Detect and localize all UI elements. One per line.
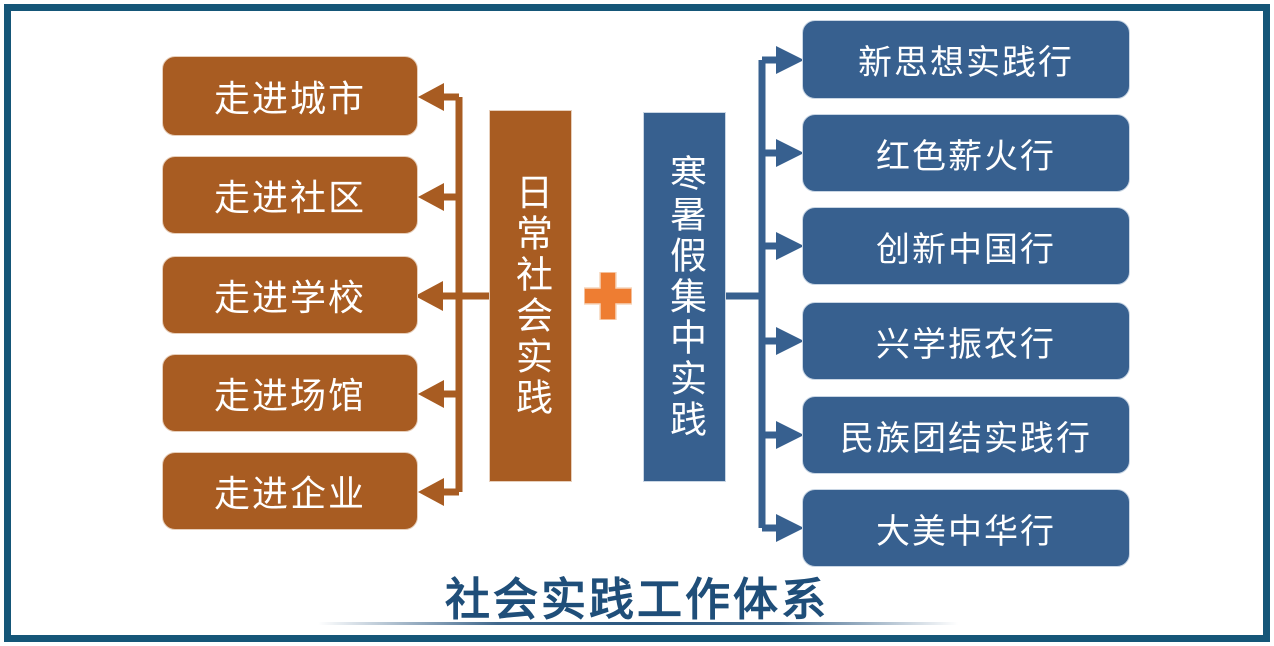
page-title: 社会实践工作体系 [0, 563, 1274, 628]
node-right-4-label: 兴学振农行 [876, 317, 1056, 366]
title-underline-rule [318, 622, 958, 625]
node-left-1[interactable]: 走进城市 [162, 56, 418, 136]
node-left-1-label: 走进城市 [214, 70, 366, 122]
frame-left-border [4, 4, 11, 642]
node-right-4[interactable]: 兴学振农行 [802, 302, 1130, 380]
node-left-3[interactable]: 走进学校 [162, 256, 418, 334]
node-left-2[interactable]: 走进社区 [162, 156, 418, 234]
node-right-6-label: 大美中华行 [876, 504, 1056, 553]
left-connectors [415, 83, 489, 506]
node-right-3-label: 创新中国行 [876, 222, 1056, 271]
hub-vacation-practice-label: 寒暑假集中实践 [658, 154, 712, 441]
right-connectors [726, 46, 804, 542]
hub-daily-practice-label: 日常社会实践 [504, 173, 558, 419]
node-right-6[interactable]: 大美中华行 [802, 489, 1130, 567]
node-left-5-label: 走进企业 [214, 465, 366, 517]
frame-right-border [1263, 4, 1270, 642]
frame-top-border [6, 4, 1268, 11]
node-left-4[interactable]: 走进场馆 [162, 354, 418, 432]
node-right-2-label: 红色薪火行 [876, 129, 1056, 178]
slide-canvas: 走进城市 走进社区 走进学校 走进场馆 走进企业 日常社会实践 寒暑假集中实践 … [0, 0, 1274, 646]
node-right-3[interactable]: 创新中国行 [802, 207, 1130, 285]
node-right-5-label: 民族团结实践行 [840, 411, 1092, 460]
node-right-1-label: 新思想实践行 [858, 35, 1074, 84]
node-right-5[interactable]: 民族团结实践行 [802, 396, 1130, 474]
node-left-4-label: 走进场馆 [214, 367, 366, 419]
hub-vacation-practice[interactable]: 寒暑假集中实践 [643, 112, 726, 482]
node-right-1[interactable]: 新思想实践行 [802, 20, 1130, 99]
node-left-5[interactable]: 走进企业 [162, 452, 418, 530]
frame-bottom-border [6, 635, 1268, 642]
node-left-3-label: 走进学校 [214, 269, 366, 321]
node-right-2[interactable]: 红色薪火行 [802, 114, 1130, 192]
hub-daily-practice[interactable]: 日常社会实践 [489, 110, 572, 482]
plus-icon [584, 272, 632, 320]
node-left-2-label: 走进社区 [214, 169, 366, 221]
